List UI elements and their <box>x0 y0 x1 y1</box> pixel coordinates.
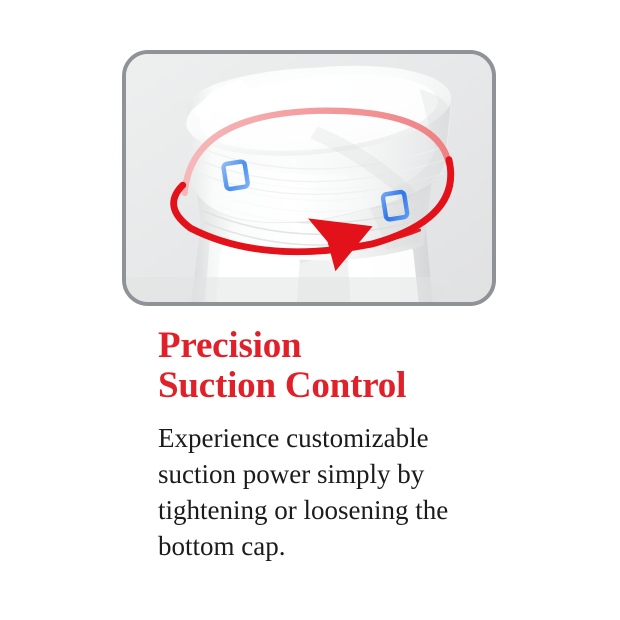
copy-block: Precision Suction Control Experience cus… <box>158 326 578 564</box>
panel-bottom-fade <box>126 277 492 304</box>
product-illustration-panel <box>122 50 496 306</box>
headline-line-2: Suction Control <box>158 366 578 406</box>
body-copy: Experience customizable suction power si… <box>158 420 488 564</box>
product-illustration-scene <box>126 54 492 305</box>
headline-line-1: Precision <box>158 326 578 366</box>
